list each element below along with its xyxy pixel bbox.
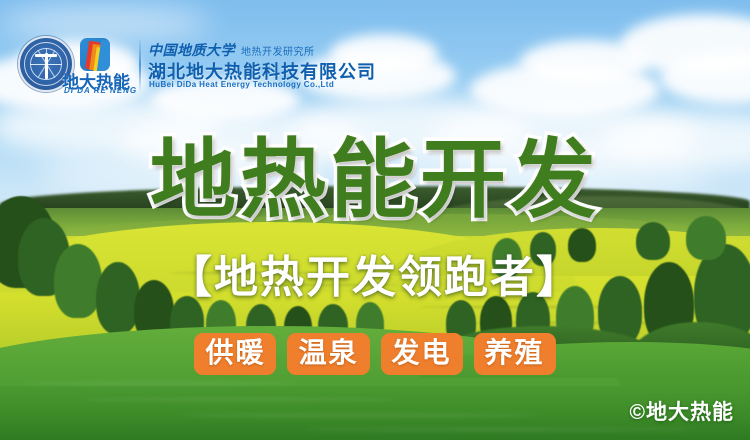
service-tag[interactable]: 养殖	[474, 333, 556, 375]
brand-name-en: DI DA RE NENG	[64, 86, 144, 95]
rainbow-square-logo-icon	[80, 38, 110, 71]
copyright-watermark: ©地大热能	[630, 396, 734, 426]
company-name-en: HuBei DiDa Heat Energy Technology Co.,Lt…	[149, 80, 334, 89]
mown-stripe	[300, 428, 700, 431]
university-name: 中国地质大学	[148, 42, 235, 58]
vertical-divider-icon	[139, 38, 141, 92]
institute-name: 地热开发研究所	[241, 47, 315, 58]
seal-hammer-head-icon	[35, 54, 57, 57]
page-title: 地热能开发	[0, 134, 750, 226]
page-subtitle: 【地热开发领跑者】	[0, 252, 750, 304]
service-tag-list: 供暖 温泉 发电 养殖	[0, 333, 750, 375]
brand-header: 地大热能 DI DA RE NENG 中国地质大学地热开发研究所 湖北地大热能科…	[0, 0, 340, 110]
mown-stripe	[20, 382, 300, 385]
header-line-university: 中国地质大学地热开发研究所	[148, 40, 315, 60]
service-tag[interactable]: 发电	[381, 333, 463, 375]
mown-stripe	[180, 414, 540, 417]
geothermal-promo-banner: 地大热能 DI DA RE NENG 中国地质大学地热开发研究所 湖北地大热能科…	[0, 0, 750, 440]
service-tag[interactable]: 温泉	[287, 333, 369, 375]
service-tag[interactable]: 供暖	[194, 333, 276, 375]
mown-stripe	[80, 398, 400, 401]
